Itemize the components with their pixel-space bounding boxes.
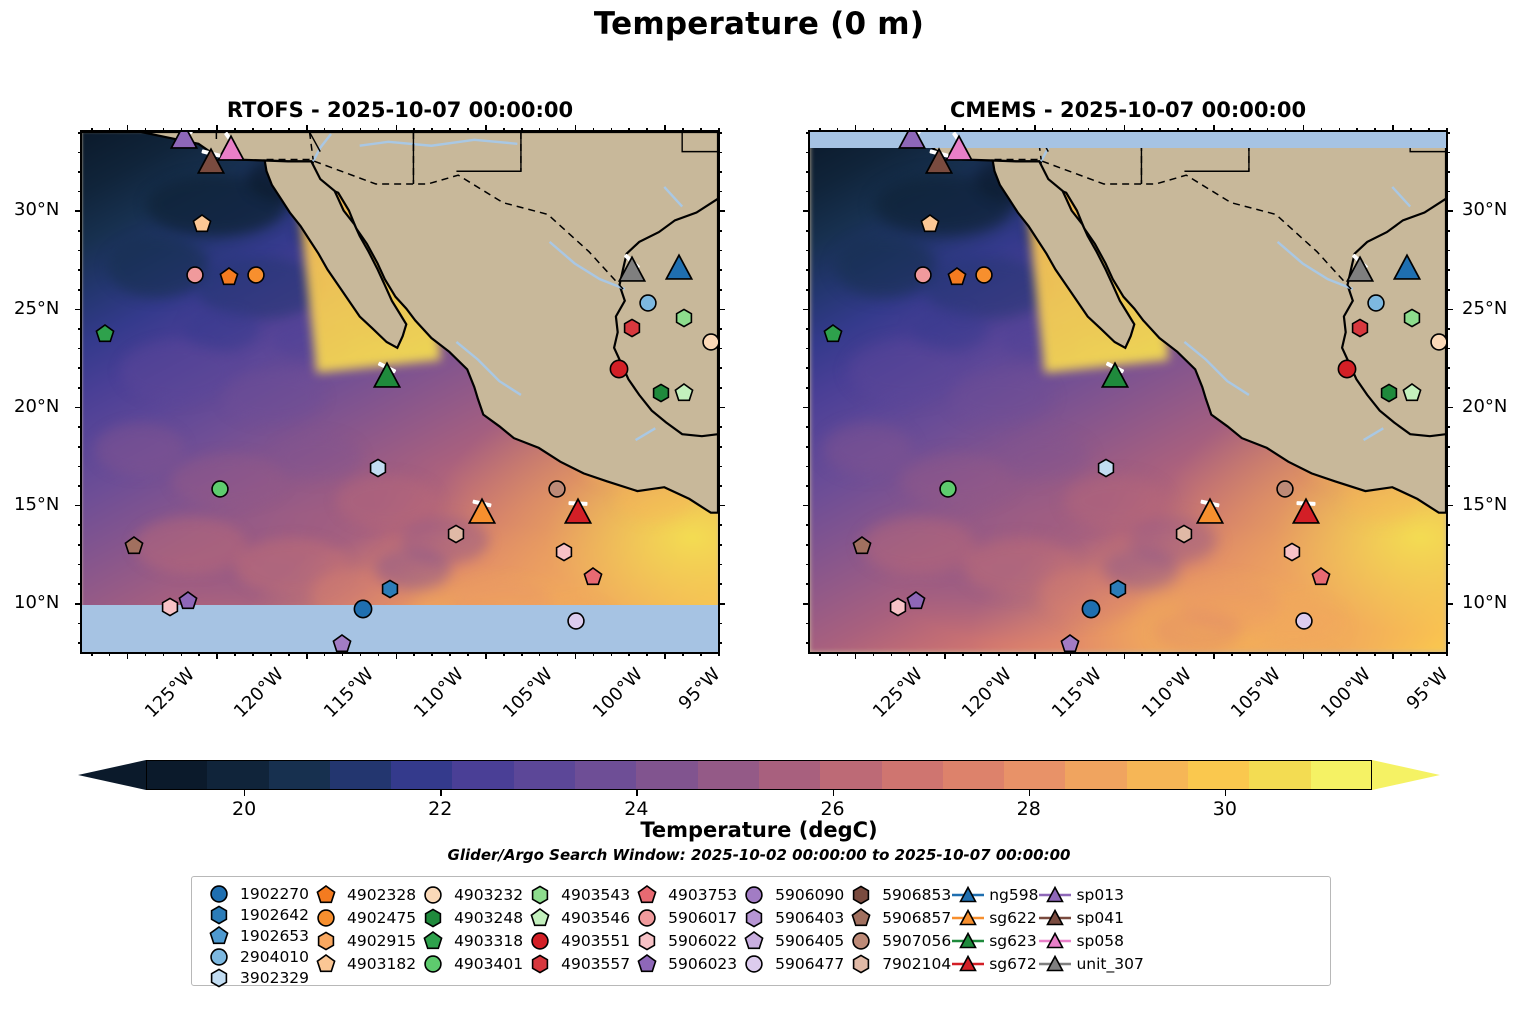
x-tick xyxy=(288,652,290,656)
x-tick xyxy=(1285,652,1287,656)
x-tick xyxy=(1195,652,1197,656)
legend-marker-5906090 xyxy=(737,885,771,905)
x-tick xyxy=(646,652,648,656)
legend-marker-unit_307 xyxy=(1038,954,1072,974)
x-tick xyxy=(342,128,344,132)
legend-item[interactable]: 5906857 xyxy=(844,907,951,929)
y-tick xyxy=(718,446,722,448)
legend-marker-4903557 xyxy=(523,954,557,974)
lat-tick-label: 30°N xyxy=(1462,199,1507,220)
x-tick xyxy=(1446,652,1448,656)
x-tick xyxy=(944,125,946,132)
y-tick xyxy=(806,485,810,487)
y-tick xyxy=(806,564,810,566)
colorbar-tick xyxy=(440,790,441,796)
legend-glider-marker xyxy=(1038,954,1072,974)
legend-label: 5906090 xyxy=(771,886,844,904)
x-tick xyxy=(1124,652,1126,659)
lat-tick-label: 25°N xyxy=(1462,298,1507,319)
x-tick xyxy=(127,125,129,132)
y-tick xyxy=(718,289,722,291)
y-tick xyxy=(806,426,810,428)
colorbar-tick xyxy=(244,790,245,796)
map-marker-5906022b[interactable] xyxy=(157,594,183,624)
map-marker-4902328[interactable] xyxy=(216,264,242,294)
y-tick xyxy=(718,466,722,468)
x-tick xyxy=(998,652,1000,656)
legend-item[interactable]: 1902642 xyxy=(202,905,309,925)
lon-tick-label: 110°W xyxy=(409,664,467,722)
map-marker-5906857[interactable] xyxy=(121,533,147,563)
y-tick xyxy=(1446,387,1450,389)
legend-marker-5906477 xyxy=(737,954,771,974)
colorbar-tick-label: 26 xyxy=(820,798,844,820)
x-tick xyxy=(467,128,469,132)
lat-tick-label: 10°N xyxy=(1462,592,1507,613)
x-tick xyxy=(611,652,613,656)
x-tick xyxy=(891,652,893,656)
map-marker-4903546[interactable] xyxy=(671,380,697,410)
map-panel-cmems: CMEMS - 2025-10-07 00:00:00 xyxy=(808,130,1448,654)
legend-marker-4903543 xyxy=(523,885,557,905)
map-marker-4903546[interactable] xyxy=(1399,380,1425,410)
legend-glider-marker xyxy=(1038,931,1072,951)
legend-glider-marker xyxy=(951,885,985,905)
legend-label: 3902329 xyxy=(236,969,309,987)
map-marker-4903182[interactable] xyxy=(189,211,215,241)
x-tick xyxy=(837,128,839,132)
x-tick xyxy=(962,128,964,132)
legend-label: 5906023 xyxy=(664,955,737,973)
map-marker-unit_307[interactable] xyxy=(615,254,649,292)
legend-label: 1902653 xyxy=(236,927,309,945)
x-tick xyxy=(1303,125,1305,132)
legend[interactable]: 1902270 1902642 1902653 2904010 3902329 … xyxy=(191,876,1331,986)
legend-marker-7902104 xyxy=(844,954,878,974)
legend-marker-4903546 xyxy=(523,908,557,928)
y-tick xyxy=(1446,289,1450,291)
y-tick xyxy=(75,505,82,507)
map-marker-4903318[interactable] xyxy=(820,321,846,351)
x-tick xyxy=(109,652,111,656)
y-tick xyxy=(78,466,82,468)
legend-item[interactable]: 4903318 xyxy=(416,930,523,952)
y-tick xyxy=(1446,348,1450,350)
map-marker-7902104[interactable] xyxy=(443,521,469,551)
legend-label: 5906477 xyxy=(771,955,844,973)
y-tick xyxy=(1446,466,1450,468)
y-tick xyxy=(78,446,82,448)
legend-glider-marker xyxy=(951,908,985,928)
x-tick xyxy=(252,128,254,132)
y-tick xyxy=(718,152,722,154)
lon-tick-label: 120°W xyxy=(958,664,1016,722)
y-tick xyxy=(718,505,725,507)
colorbar-extend-max xyxy=(1372,760,1440,790)
x-tick xyxy=(1177,128,1179,132)
legend-item[interactable]: sp058 xyxy=(1038,930,1143,952)
legend-item[interactable]: 5906017 xyxy=(630,907,737,929)
legend-item[interactable]: 4903753 xyxy=(630,884,737,906)
colorbar-title: Temperature (degC) xyxy=(0,818,1518,842)
map-marker-sg623[interactable] xyxy=(370,360,404,398)
colorbar-tick-label: 28 xyxy=(1017,798,1041,820)
x-tick xyxy=(1339,128,1341,132)
map-frame-rtofs[interactable] xyxy=(80,130,720,654)
x-tick xyxy=(198,652,200,656)
map-marker-4903401[interactable] xyxy=(207,476,233,506)
y-tick xyxy=(1446,603,1453,605)
map-marker-4903182[interactable] xyxy=(917,211,943,241)
y-tick xyxy=(75,210,82,212)
map-marker-5906017[interactable] xyxy=(910,262,936,292)
y-tick xyxy=(718,230,722,232)
y-tick xyxy=(75,603,82,605)
legend-label: 5906022 xyxy=(664,932,737,950)
map-marker-4903753[interactable] xyxy=(580,564,606,594)
legend-marker-4903401 xyxy=(416,954,450,974)
map-marker-sp041[interactable] xyxy=(194,146,228,184)
legend-label: 1902642 xyxy=(236,906,309,924)
x-tick xyxy=(1106,652,1108,656)
map-marker-4902475[interactable] xyxy=(243,262,269,292)
map-marker-4903753[interactable] xyxy=(1308,564,1334,594)
legend-item[interactable]: 5906022 xyxy=(630,930,737,952)
legend-item[interactable]: 5906403 xyxy=(737,907,844,929)
lat-tick-label: 10°N xyxy=(14,592,59,613)
legend-item[interactable]: 4903401 xyxy=(416,953,523,975)
legend-marker-5907056 xyxy=(844,931,878,951)
y-tick xyxy=(718,603,725,605)
map-marker-4903557[interactable] xyxy=(619,315,645,345)
x-tick xyxy=(91,652,93,656)
legend-item[interactable]: 5906405 xyxy=(737,930,844,952)
y-tick xyxy=(78,583,82,585)
legend-item[interactable]: sp013 xyxy=(1038,884,1143,906)
map-marker-5906022[interactable] xyxy=(551,539,577,569)
legend-item[interactable]: 5907056 xyxy=(844,930,951,952)
legend-item[interactable]: sp041 xyxy=(1038,907,1143,929)
map-marker-4902328[interactable] xyxy=(944,264,970,294)
x-tick xyxy=(181,652,183,656)
map-frame-cmems[interactable] xyxy=(808,130,1448,654)
legend-marker-3902329 xyxy=(202,968,236,988)
legend-glider-marker xyxy=(951,931,985,951)
legend-label: sp041 xyxy=(1072,909,1124,927)
legend-label: 4903753 xyxy=(664,886,737,904)
x-tick xyxy=(163,652,165,656)
legend-item[interactable]: 5906023 xyxy=(630,953,737,975)
y-tick xyxy=(718,367,722,369)
legend-item[interactable]: 3902329 xyxy=(202,968,309,988)
map-marker-4903318[interactable] xyxy=(92,321,118,351)
y-tick xyxy=(78,171,82,173)
legend-item[interactable]: 4903543 xyxy=(523,884,630,906)
map-marker-1902270[interactable] xyxy=(1077,595,1105,627)
legend-item[interactable]: sg623 xyxy=(951,930,1038,952)
y-tick xyxy=(718,348,722,350)
x-tick xyxy=(1303,652,1305,659)
y-tick xyxy=(718,132,722,134)
x-tick xyxy=(980,652,982,656)
map-marker-5906477[interactable] xyxy=(1291,608,1317,638)
x-tick xyxy=(521,128,523,132)
x-tick xyxy=(682,652,684,656)
map-marker-3902329[interactable] xyxy=(1093,455,1119,485)
legend-column-2: 4903232 4903248 4903318 4903401 xyxy=(416,884,523,980)
legend-marker-5906405 xyxy=(737,931,771,951)
legend-label: 1902270 xyxy=(236,885,309,903)
y-tick xyxy=(718,328,722,330)
x-tick xyxy=(1392,652,1394,659)
map-marker-1902642[interactable] xyxy=(1105,576,1131,606)
x-tick xyxy=(1016,652,1018,656)
lon-tick-label: 95°W xyxy=(675,664,725,714)
map-marker-sg622[interactable] xyxy=(465,496,499,534)
y-tick xyxy=(803,603,810,605)
y-tick xyxy=(75,309,82,311)
legend-glider-marker xyxy=(951,954,985,974)
legend-label: sp013 xyxy=(1072,886,1124,904)
y-tick xyxy=(718,544,722,546)
x-tick xyxy=(413,652,415,656)
x-tick xyxy=(1141,128,1143,132)
map-marker-sp041[interactable] xyxy=(922,146,956,184)
legend-column-1: 4902328 4902475 4902915 4903182 xyxy=(309,884,416,980)
map-marker-sg623[interactable] xyxy=(1098,360,1132,398)
map-marker-4903551[interactable] xyxy=(605,355,633,387)
x-tick xyxy=(1356,128,1358,132)
x-tick xyxy=(449,128,451,132)
legend-label: 5906017 xyxy=(664,909,737,927)
y-tick xyxy=(1446,564,1450,566)
x-tick xyxy=(557,128,559,132)
lat-tick-label: 30°N xyxy=(14,199,59,220)
map-marker-sg672[interactable] xyxy=(1289,496,1323,534)
x-tick xyxy=(855,652,857,659)
legend-item[interactable]: 4903248 xyxy=(416,907,523,929)
lon-tick-label: 105°W xyxy=(499,664,557,722)
y-tick xyxy=(1446,524,1450,526)
legend-marker-4903753 xyxy=(630,885,664,905)
legend-item[interactable]: 4903551 xyxy=(523,930,630,952)
legend-item[interactable]: 4903557 xyxy=(523,953,630,975)
x-tick xyxy=(145,652,147,656)
legend-column-7: ng598 sg622 sg623 sg672 xyxy=(951,884,1038,980)
y-tick xyxy=(78,426,82,428)
y-tick xyxy=(806,446,810,448)
legend-item[interactable]: 5906090 xyxy=(737,884,844,906)
x-tick xyxy=(145,128,147,132)
x-tick xyxy=(1356,652,1358,656)
legend-item[interactable]: 4902915 xyxy=(309,930,416,952)
legend-item[interactable]: 1902653 xyxy=(202,926,309,946)
map-marker-4903232[interactable] xyxy=(698,329,720,359)
y-tick xyxy=(78,191,82,193)
x-tick xyxy=(109,128,111,132)
panel-title-cmems: CMEMS - 2025-10-07 00:00:00 xyxy=(808,98,1448,122)
x-tick xyxy=(1034,652,1036,659)
x-tick xyxy=(575,125,577,132)
legend-marker-2904010 xyxy=(202,947,236,967)
y-tick xyxy=(1446,132,1450,134)
x-tick xyxy=(837,652,839,656)
map-marker-7902104[interactable] xyxy=(1171,521,1197,551)
legend-label: 5906405 xyxy=(771,932,844,950)
lon-tick-label: 115°W xyxy=(1048,664,1106,722)
legend-item[interactable]: 5906477 xyxy=(737,953,844,975)
x-tick xyxy=(1016,128,1018,132)
x-tick xyxy=(413,128,415,132)
y-tick xyxy=(803,505,810,507)
y-tick xyxy=(78,544,82,546)
x-tick xyxy=(234,128,236,132)
legend-item[interactable]: 4902475 xyxy=(309,907,416,929)
legend-marker-5906853 xyxy=(844,885,878,905)
legend-item[interactable]: sg622 xyxy=(951,907,1038,929)
x-tick xyxy=(1159,128,1161,132)
lon-tick-label: 110°W xyxy=(1137,664,1195,722)
map-marker-4902475[interactable] xyxy=(971,262,997,292)
lat-tick-label: 15°N xyxy=(14,494,59,515)
map-marker-4903551[interactable] xyxy=(1333,355,1361,387)
x-tick xyxy=(431,652,433,656)
x-tick xyxy=(1034,125,1036,132)
map-marker-4903401[interactable] xyxy=(935,476,961,506)
map-marker-4903248[interactable] xyxy=(1376,380,1402,410)
lon-tick-label: 125°W xyxy=(869,664,927,722)
lon-tick-label: 105°W xyxy=(1227,664,1285,722)
y-tick xyxy=(75,407,82,409)
map-marker-3902329[interactable] xyxy=(365,455,391,485)
y-tick xyxy=(718,583,722,585)
y-tick xyxy=(78,387,82,389)
legend-label: 4903551 xyxy=(557,932,630,950)
legend-item[interactable]: 2904010 xyxy=(202,947,309,967)
x-tick xyxy=(700,652,702,656)
x-tick xyxy=(378,128,380,132)
y-tick xyxy=(78,348,82,350)
map-marker-1902642[interactable] xyxy=(377,576,403,606)
map-marker-1902270[interactable] xyxy=(349,595,377,627)
map-marker-4903543[interactable] xyxy=(671,305,697,335)
map-marker-5906017[interactable] xyxy=(182,262,208,292)
map-marker-ng598[interactable] xyxy=(1390,252,1424,290)
x-tick xyxy=(1070,652,1072,656)
legend-item[interactable]: unit_307 xyxy=(1038,953,1143,975)
legend-item[interactable]: 7902104 xyxy=(844,953,951,975)
legend-item[interactable]: sg672 xyxy=(951,953,1038,975)
map-marker-5906022b[interactable] xyxy=(885,594,911,624)
x-tick xyxy=(1428,128,1430,132)
legend-item[interactable]: 4902328 xyxy=(309,884,416,906)
x-tick xyxy=(467,652,469,656)
y-tick xyxy=(1446,407,1453,409)
x-tick xyxy=(1231,128,1233,132)
x-tick xyxy=(1410,128,1412,132)
legend-marker-5906017 xyxy=(630,908,664,928)
legend-marker-sg672 xyxy=(951,954,985,974)
legend-label: 4902328 xyxy=(343,886,416,904)
legend-label: 4903248 xyxy=(450,909,523,927)
legend-item[interactable]: ng598 xyxy=(951,884,1038,906)
map-marker-unit_307[interactable] xyxy=(1343,254,1377,292)
y-tick xyxy=(78,289,82,291)
map-marker-5906090[interactable] xyxy=(1057,631,1083,654)
colorbar: 202224262830 xyxy=(78,760,1440,790)
map-marker-4903543[interactable] xyxy=(1399,305,1425,335)
x-tick xyxy=(1213,125,1215,132)
legend-item[interactable]: 5906853 xyxy=(844,884,951,906)
map-marker-sg672[interactable] xyxy=(561,496,595,534)
legend-label: 4903232 xyxy=(450,886,523,904)
x-tick xyxy=(539,128,541,132)
legend-label: 4902915 xyxy=(343,932,416,950)
map-marker-4903557[interactable] xyxy=(1347,315,1373,345)
lat-tick-label: 15°N xyxy=(1462,494,1507,515)
legend-marker-ng598 xyxy=(951,885,985,905)
legend-glider-marker xyxy=(1038,908,1072,928)
x-tick xyxy=(360,128,362,132)
legend-item[interactable]: 4903182 xyxy=(309,953,416,975)
map-marker-ng598[interactable] xyxy=(662,252,696,290)
map-panel-rtofs: RTOFS - 2025-10-07 00:00:00 xyxy=(80,130,720,654)
colorbar-tick xyxy=(1029,790,1030,796)
y-tick xyxy=(1446,230,1450,232)
legend-label: 4903543 xyxy=(557,886,630,904)
legend-item[interactable]: 4903546 xyxy=(523,907,630,929)
lat-tick-label: 20°N xyxy=(14,396,59,417)
y-tick xyxy=(806,367,810,369)
map-marker-sg622[interactable] xyxy=(1193,496,1227,534)
map-marker-5906090[interactable] xyxy=(329,631,355,654)
colorbar-tick-label: 20 xyxy=(232,798,256,820)
x-tick xyxy=(909,652,911,656)
map-marker-5906022[interactable] xyxy=(1279,539,1305,569)
x-tick xyxy=(306,652,308,659)
x-tick xyxy=(1374,652,1376,656)
y-tick xyxy=(78,250,82,252)
x-tick xyxy=(1410,652,1412,656)
x-tick xyxy=(485,652,487,659)
x-tick xyxy=(593,652,595,656)
y-tick xyxy=(806,524,810,526)
y-tick xyxy=(806,171,810,173)
colorbar-tick-label: 30 xyxy=(1213,798,1237,820)
legend-label: 5907056 xyxy=(878,932,951,950)
map-marker-4903248[interactable] xyxy=(648,380,674,410)
x-tick xyxy=(664,125,666,132)
legend-column-5: 5906090 5906403 5906405 5906477 xyxy=(737,884,844,980)
x-tick xyxy=(1285,128,1287,132)
legend-item[interactable]: 4903232 xyxy=(416,884,523,906)
legend-item[interactable]: 1902270 xyxy=(202,884,309,904)
x-tick xyxy=(1159,652,1161,656)
figure-title: Temperature (0 m) xyxy=(0,6,1518,42)
x-tick xyxy=(1141,652,1143,656)
y-tick xyxy=(718,623,722,625)
legend-column-4: 4903753 5906017 5906022 5906023 xyxy=(630,884,737,980)
map-marker-4903232[interactable] xyxy=(1426,329,1448,359)
legend-marker-4902475 xyxy=(309,908,343,928)
map-marker-5906477[interactable] xyxy=(563,608,589,638)
y-tick xyxy=(718,171,722,173)
map-marker-5906857[interactable] xyxy=(849,533,875,563)
x-tick xyxy=(431,128,433,132)
x-tick xyxy=(342,652,344,656)
legend-column-3: 4903543 4903546 4903551 4903557 xyxy=(523,884,630,980)
x-tick xyxy=(557,652,559,656)
